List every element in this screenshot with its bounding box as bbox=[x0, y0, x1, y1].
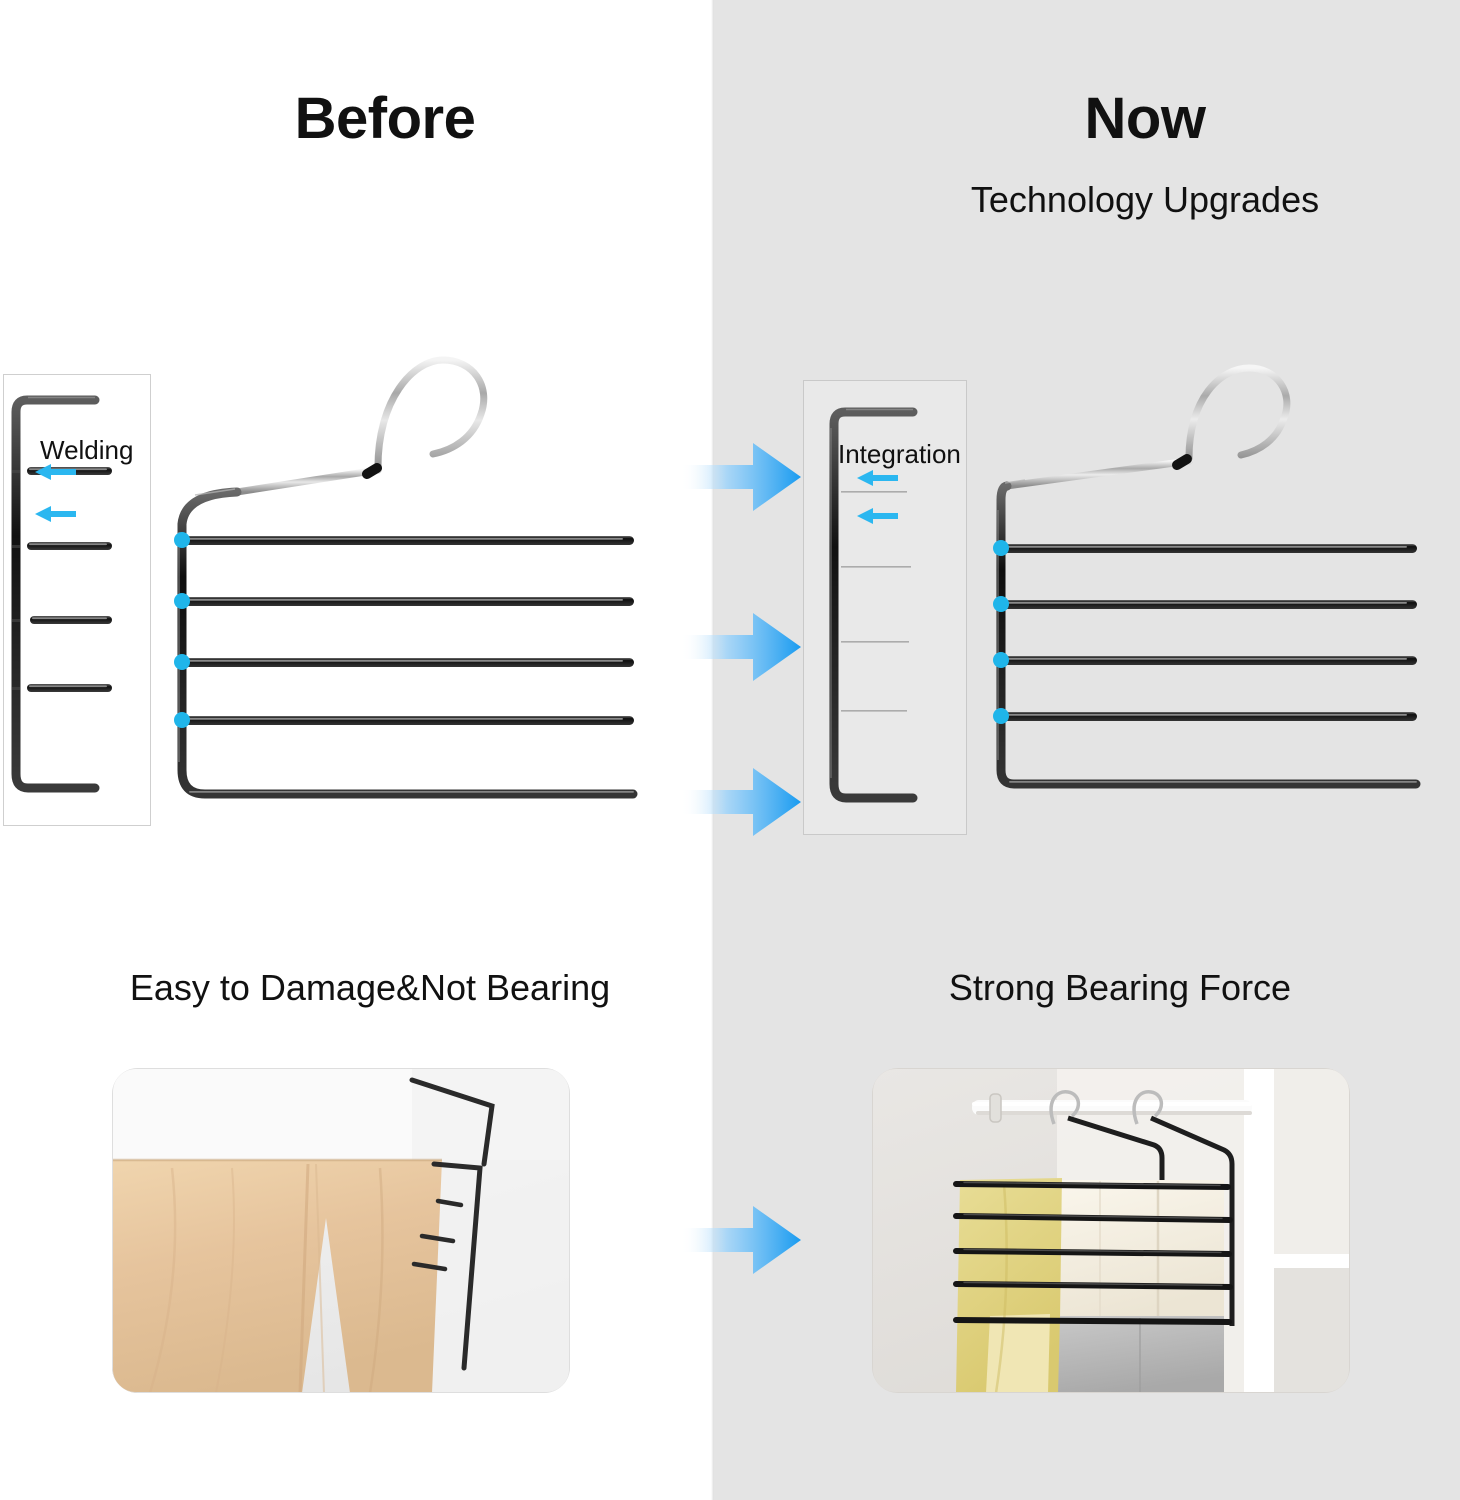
transition-arrow-1 bbox=[681, 440, 803, 514]
integration-arrow-icon-1 bbox=[855, 468, 899, 488]
transition-arrow-3 bbox=[681, 765, 803, 839]
caption-now: Strong Bearing Force bbox=[830, 970, 1410, 1006]
hanger-illustration-now bbox=[965, 360, 1445, 830]
transition-arrow-4 bbox=[681, 1203, 803, 1277]
callout-label-welding: Welding bbox=[40, 437, 133, 463]
photo-loaded-hangers bbox=[872, 1068, 1350, 1393]
photo-damaged-hanger bbox=[112, 1068, 570, 1393]
page-title-before: Before bbox=[180, 90, 590, 148]
page-title-now: Now bbox=[940, 90, 1350, 148]
integration-arrow-icon-2 bbox=[855, 506, 899, 526]
page-subtitle-now: Technology Upgrades bbox=[860, 182, 1430, 218]
hanger-illustration-before bbox=[165, 342, 675, 822]
callout-label-integration: Integration bbox=[838, 441, 961, 467]
transition-arrow-2 bbox=[681, 610, 803, 684]
welding-arrow-icon-1 bbox=[33, 462, 77, 482]
infographic-root: Before Now Technology Upgrades bbox=[0, 0, 1460, 1500]
caption-before: Easy to Damage&Not Bearing bbox=[50, 970, 690, 1006]
welding-arrow-icon-2 bbox=[33, 504, 77, 524]
